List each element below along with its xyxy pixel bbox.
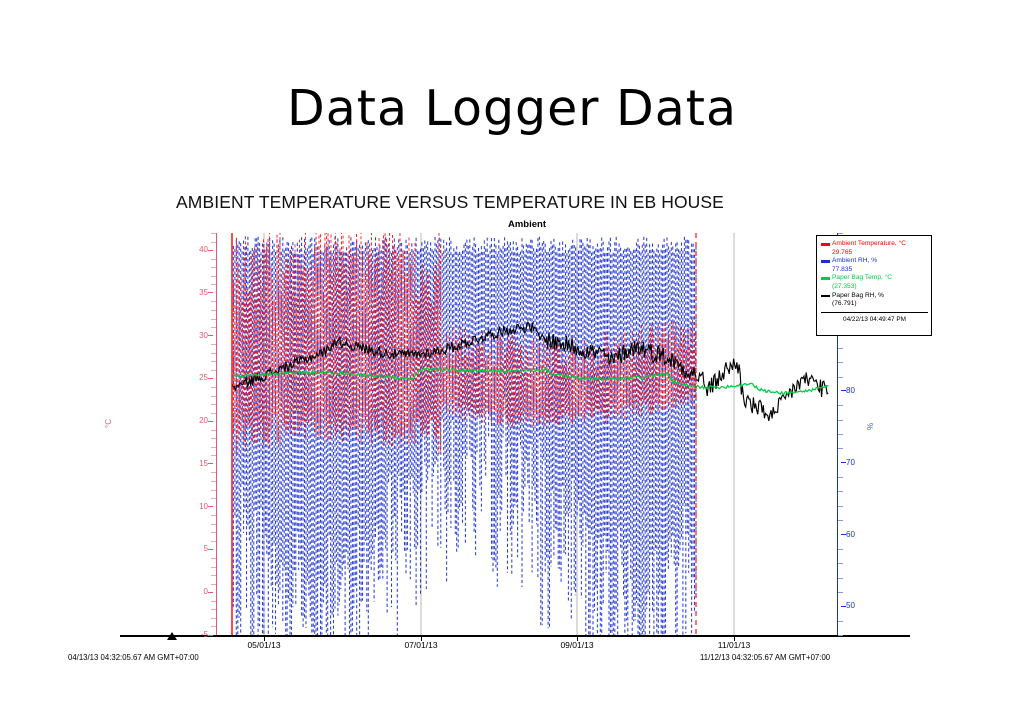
legend-item-label: Ambient Temperature, °C	[832, 240, 906, 249]
y-minor-tick-left	[211, 584, 216, 585]
y-minor-tick-left	[211, 481, 216, 482]
legend-item-value: (76.791)	[832, 300, 928, 309]
plot-area[interactable]	[217, 233, 837, 635]
y-minor-tick-left	[211, 515, 216, 516]
y-minor-tick-left	[211, 455, 216, 456]
legend-color-swatch	[821, 295, 830, 298]
y-tick-right: 70	[846, 459, 855, 467]
y-minor-tick-left	[211, 396, 216, 397]
y-minor-tick-right	[838, 448, 843, 449]
y-tick-left: 30	[182, 332, 208, 340]
y-minor-tick-right	[838, 362, 843, 363]
y-minor-tick-right	[838, 477, 843, 478]
y-minor-tick-left	[211, 558, 216, 559]
legend-color-swatch	[821, 243, 830, 246]
y-minor-tick-right	[838, 491, 843, 492]
y-minor-tick-left	[211, 267, 216, 268]
x-tick-label: 07/01/13	[404, 640, 437, 650]
y-minor-tick-right	[838, 520, 843, 521]
chart-subtitle: AMBIENT TEMPERATURE VERSUS TEMPERATURE I…	[170, 192, 730, 213]
y-minor-tick-left	[211, 490, 216, 491]
y-tick-right: 60	[846, 531, 855, 539]
y-minor-tick-left	[211, 233, 216, 234]
y-minor-tick-right	[838, 506, 843, 507]
y-minor-tick-left	[211, 242, 216, 243]
y-minor-tick-left	[211, 567, 216, 568]
y-minor-tick-left	[211, 387, 216, 388]
y-minor-tick-left	[211, 524, 216, 525]
y-minor-tick-right	[838, 233, 843, 234]
legend-item[interactable]: Ambient RH, %	[821, 257, 928, 266]
legend-item[interactable]: Ambient Temperature, °C	[821, 240, 928, 249]
y-minor-tick-left	[211, 310, 216, 311]
legend-item[interactable]: Paper Bag RH, %	[821, 292, 928, 301]
y-minor-tick-right	[838, 405, 843, 406]
y-minor-tick-right	[838, 420, 843, 421]
y-tick-right: 50	[846, 602, 855, 610]
legend-item[interactable]: Paper Bag Temp, °C	[821, 274, 928, 283]
x-tick-label: 09/01/13	[560, 640, 593, 650]
y-minor-tick-right	[838, 377, 843, 378]
legend-cursor-timestamp: 04/22/13 04:49:47 PM	[821, 312, 928, 323]
y-minor-tick-right	[838, 434, 843, 435]
y-minor-tick-left	[211, 413, 216, 414]
y-minor-tick-left	[211, 609, 216, 610]
chart-container: Ambient	[60, 216, 960, 666]
y-tick-left: 20	[182, 417, 208, 425]
y-tick-left: 5	[182, 545, 208, 553]
legend-color-swatch	[821, 260, 830, 263]
y-minor-tick-left	[211, 601, 216, 602]
timestamp-range-start: 04/13/13 04:32:05.67 AM GMT+07:00	[68, 653, 199, 662]
x-axis-line	[120, 635, 910, 637]
y-minor-tick-left	[211, 259, 216, 260]
y-tick-left: 10	[182, 503, 208, 511]
legend-item-label: Paper Bag RH, %	[832, 292, 884, 301]
y-minor-tick-left	[211, 353, 216, 354]
y-tick-left: 40	[182, 246, 208, 254]
y-tick-left: -5	[182, 631, 208, 639]
y-axis-right-label: %	[866, 423, 875, 430]
chart-legend[interactable]: Ambient Temperature, °C29.765Ambient RH,…	[816, 235, 932, 336]
y-minor-tick-right	[838, 621, 843, 622]
y-minor-tick-left	[211, 532, 216, 533]
plot-title: Ambient	[217, 219, 837, 230]
y-tick-left: 0	[182, 588, 208, 596]
y-axis-left-rail	[216, 233, 217, 635]
y-minor-tick-left	[211, 327, 216, 328]
y-minor-tick-left	[211, 498, 216, 499]
y-minor-tick-left	[211, 626, 216, 627]
slide-canvas: Data Logger Data AMBIENT TEMPERATURE VER…	[0, 0, 1024, 724]
y-minor-tick-left	[211, 284, 216, 285]
y-tick-left: 15	[182, 460, 208, 468]
y-minor-tick-left	[211, 575, 216, 576]
y-minor-tick-right	[838, 635, 843, 636]
legend-color-swatch	[821, 277, 830, 280]
y-minor-tick-right	[838, 348, 843, 349]
y-minor-tick-left	[211, 370, 216, 371]
y-minor-tick-left	[211, 438, 216, 439]
legend-item-label: Ambient RH, %	[832, 257, 877, 266]
y-tick-left: 25	[182, 374, 208, 382]
y-minor-tick-left	[211, 344, 216, 345]
y-minor-tick-left	[211, 404, 216, 405]
cursor-position-marker[interactable]	[167, 632, 177, 640]
y-minor-tick-right	[838, 578, 843, 579]
x-tick-label: 05/01/13	[247, 640, 280, 650]
y-tick-right: 80	[846, 387, 855, 395]
y-tick-left: 35	[182, 289, 208, 297]
timestamp-range-end: 11/12/13 04:32:05.67 AM GMT+07:00	[700, 653, 830, 662]
y-minor-tick-left	[211, 472, 216, 473]
y-minor-tick-right	[838, 549, 843, 550]
legend-item-value: 29.765	[832, 249, 928, 258]
page-title: Data Logger Data	[0, 82, 1024, 136]
x-tick-label: 11/01/13	[718, 640, 750, 650]
y-minor-tick-left	[211, 361, 216, 362]
y-minor-tick-left	[211, 541, 216, 542]
legend-item-label: Paper Bag Temp, °C	[832, 274, 892, 283]
y-minor-tick-left	[211, 447, 216, 448]
y-minor-tick-left	[211, 276, 216, 277]
y-minor-tick-right	[838, 592, 843, 593]
y-minor-tick-left	[211, 430, 216, 431]
y-minor-tick-left	[211, 319, 216, 320]
legend-item-value: (27.353)	[832, 283, 928, 292]
y-minor-tick-left	[211, 618, 216, 619]
y-minor-tick-right	[838, 563, 843, 564]
y-minor-tick-left	[211, 301, 216, 302]
y-axis-left-label: °C	[104, 419, 113, 428]
